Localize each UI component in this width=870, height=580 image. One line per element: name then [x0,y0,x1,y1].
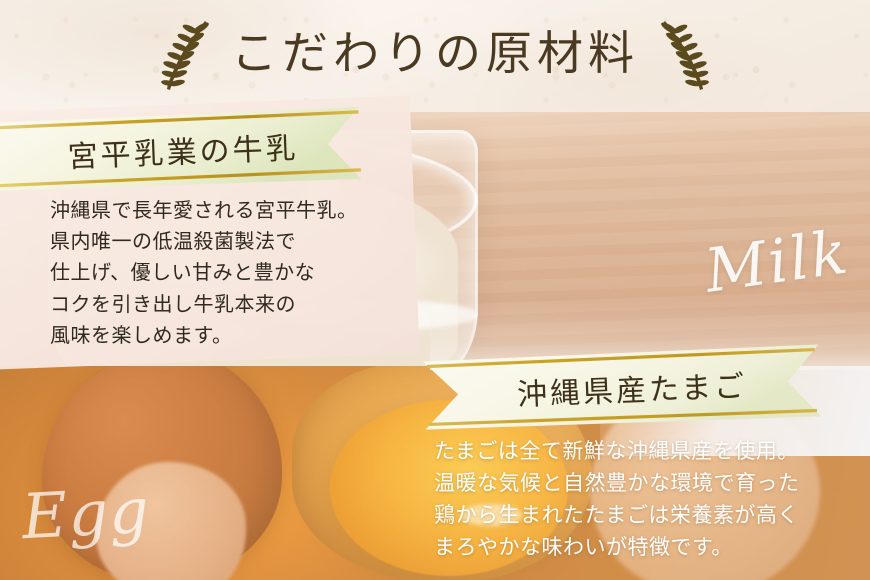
milk-ribbon-label: 宮平乳業の牛乳 [0,107,361,193]
milk-ribbon-banner: 宮平乳業の牛乳 [0,107,361,193]
page-title: こだわりの原材料 [231,31,639,81]
page-title-row: こだわりの原材料 [0,14,870,98]
egg-description-line: たまごは全て新鮮な沖縄県産を使用。 [434,436,854,468]
milk-description-line: 仕上げ、優しい甘みと豊かな [50,258,380,289]
milk-description-line: 風味を楽しめます。 [50,321,380,352]
milk-description-line: 県内唯一の低温殺菌製法で [50,227,380,258]
egg-description-line: 鶏から生まれたたまごは栄養素が高く [434,500,854,532]
laurel-branch-icon [155,17,217,95]
egg-description-line: まろやかな味わいが特徴です。 [434,532,854,564]
milk-description-line: コクを引き出し牛乳本来の [50,290,380,321]
milk-description: 沖縄県で長年愛される宮平牛乳。 県内唯一の低温殺菌製法で 仕上げ、優しい甘みと豊… [50,196,380,352]
egg-description-line: 温暖な気候と自然豊かな環境で育った [434,468,854,500]
egg-ribbon-label: 沖縄県産たまご [423,344,821,431]
ingredients-panel: こだわりの原材料 [0,0,870,580]
egg-ribbon-banner: 沖縄県産たまご [423,344,821,431]
milk-description-line: 沖縄県で長年愛される宮平牛乳。 [50,196,380,227]
laurel-branch-icon [653,17,715,95]
egg-description: たまごは全て新鮮な沖縄県産を使用。 温暖な気候と自然豊かな環境で育った 鶏から生… [434,436,854,564]
